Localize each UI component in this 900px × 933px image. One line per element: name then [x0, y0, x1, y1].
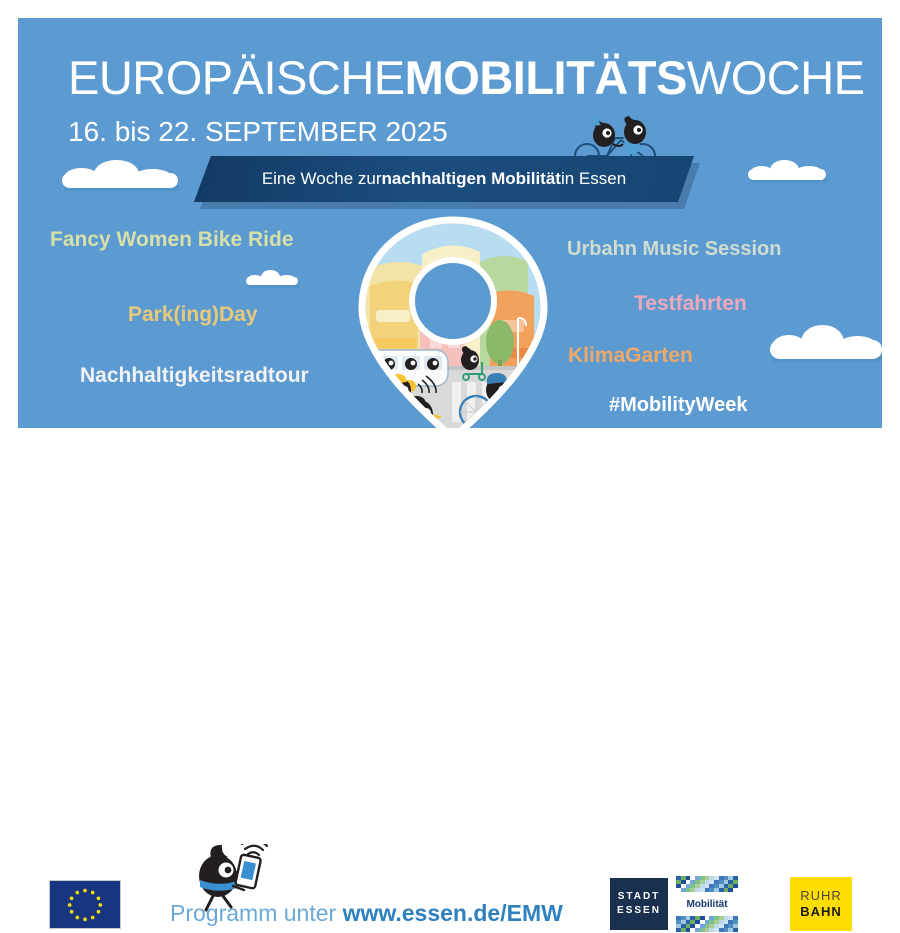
ribbon-text-bold: nachhaltigen Mobilität	[382, 169, 561, 189]
mobilitaet-label: Mobilität	[676, 892, 738, 916]
event-label: Park(ing)Day	[128, 303, 258, 327]
mascot-bird-with-phone-icon	[186, 844, 272, 916]
title-part-woche: WOCHE	[687, 51, 865, 104]
eu-flag-icon	[49, 880, 121, 929]
event-label: Nachhaltigkeitsradtour	[80, 364, 309, 388]
mosaic-tile	[733, 888, 738, 892]
cloud-icon	[62, 160, 178, 196]
map-pin-illustration	[348, 214, 558, 428]
cloud-icon	[748, 160, 826, 188]
logo-ruhrbahn: RUHR BAHN	[790, 877, 852, 931]
mosaic-top	[676, 876, 738, 892]
ruhr-line-2: BAHN	[800, 904, 842, 920]
ribbon-text-before: Eine Woche zur	[262, 169, 382, 189]
subtitle-ribbon: Eine Woche zur nachhaltigen Mobilität in…	[194, 156, 694, 206]
ruhr-line-1: RUHR	[800, 888, 842, 904]
program-url[interactable]: www.essen.de/EMW	[343, 900, 563, 926]
mosaic-bottom	[676, 916, 738, 932]
cloud-icon	[770, 325, 882, 367]
date-range: 16. bis 22. SEPTEMBER 2025	[68, 116, 448, 148]
title-part-mobilitaets: MOBILITÄTS	[405, 51, 687, 104]
logo-mobilitaet: Mobilität	[676, 876, 738, 932]
event-label: Testfahrten	[634, 292, 747, 316]
stadt-line-2: ESSEN	[617, 904, 661, 919]
event-label: #MobilityWeek	[609, 394, 748, 417]
page-title: EUROPÄISCHEMOBILITÄTSWOCHE	[68, 54, 864, 101]
ribbon-text-after: in Essen	[561, 169, 626, 189]
poster-footer: Programm unter www.essen.de/EMW STADT ES…	[0, 428, 900, 600]
cloud-icon	[246, 270, 298, 293]
event-label: Urbahn Music Session	[567, 238, 782, 261]
title-part-europaeische: EUROPÄISCHE	[68, 51, 405, 104]
emw-poster: EUROPÄISCHEMOBILITÄTSWOCHE 16. bis 22. S…	[0, 0, 900, 600]
ribbon-text: Eine Woche zur nachhaltigen Mobilität in…	[194, 156, 694, 202]
poster-blue-panel: EUROPÄISCHEMOBILITÄTSWOCHE 16. bis 22. S…	[18, 18, 882, 428]
logo-stadt-essen: STADT ESSEN	[610, 878, 668, 930]
mosaic-tile	[733, 928, 738, 932]
event-label: KlimaGarten	[568, 344, 693, 368]
event-label: Fancy Women Bike Ride	[50, 228, 294, 252]
stadt-line-1: STADT	[618, 890, 661, 905]
